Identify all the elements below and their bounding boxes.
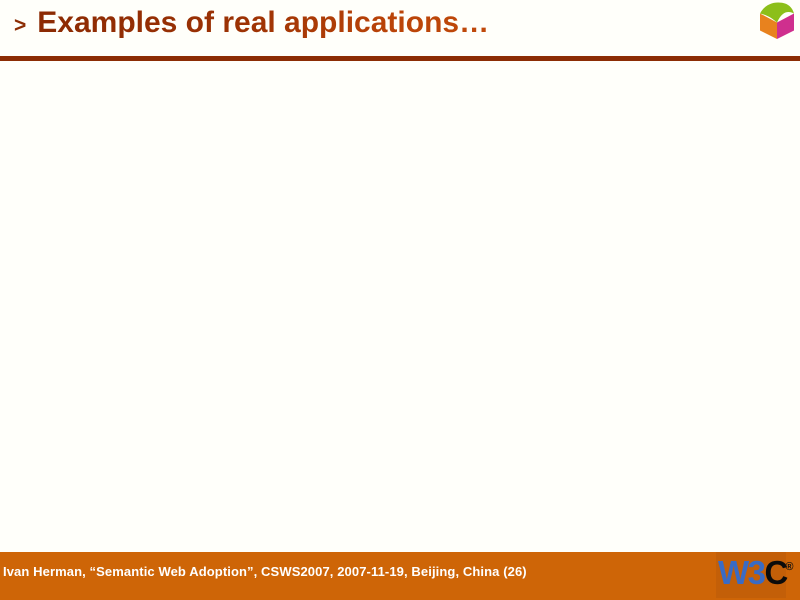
w3c-logo-c-text: C — [765, 554, 788, 591]
page-title: > Examples of real applications… — [14, 8, 489, 38]
w3c-logo: W3C® — [718, 556, 798, 596]
slide: > Examples of real applications… Ivan He… — [0, 0, 800, 600]
slide-body-content — [0, 61, 800, 81]
slide-title-text: Examples of real applications… — [37, 8, 489, 38]
slide-body — [0, 61, 800, 551]
slide-header: > Examples of real applications… — [0, 0, 800, 56]
w3c-logo-w3-text: W3 — [718, 554, 765, 591]
cube-logo-icon — [758, 1, 798, 41]
footer-citation-text: Ivan Herman, “Semantic Web Adoption”, CS… — [3, 564, 527, 579]
bullet-marker-icon: > — [14, 15, 26, 36]
slide-footer: Ivan Herman, “Semantic Web Adoption”, CS… — [0, 552, 800, 600]
registered-trademark-icon: ® — [785, 561, 793, 573]
